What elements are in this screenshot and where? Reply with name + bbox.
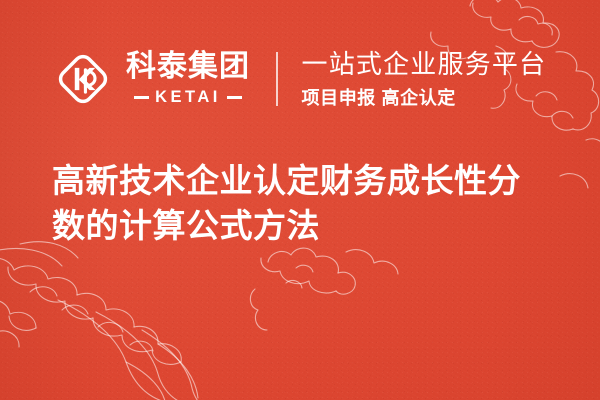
page-title: 高新技术企业认定财务成长性分 数的计算公式方法 (52, 158, 552, 248)
wordmark-dash-right (227, 96, 242, 100)
wordmark-dash-left (134, 96, 149, 100)
tagline-block: 一站式企业服务平台 项目申报 高企认定 (302, 51, 547, 107)
tagline-secondary: 项目申报 高企认定 (302, 89, 547, 107)
header-divider (276, 52, 278, 106)
brand-name-en: KETAI (155, 89, 221, 106)
banner-header: 科泰集团 KETAI 一站式企业服务平台 项目申报 高企认定 (52, 38, 546, 120)
page-title-line-1: 高新技术企业认定财务成长性分 (52, 158, 552, 203)
ketai-diamond-monogram-icon (52, 48, 114, 110)
brand-name-en-row: KETAI (126, 89, 250, 106)
brand-name-cn: 科泰集团 (126, 52, 250, 82)
brand-logo[interactable]: 科泰集团 KETAI (52, 48, 250, 110)
tagline-primary: 一站式企业服务平台 (302, 51, 547, 77)
brand-wordmark: 科泰集团 KETAI (126, 52, 250, 106)
promo-banner: 科泰集团 KETAI 一站式企业服务平台 项目申报 高企认定 高新技术企业认定财… (0, 0, 600, 400)
page-title-line-2: 数的计算公式方法 (52, 203, 552, 248)
